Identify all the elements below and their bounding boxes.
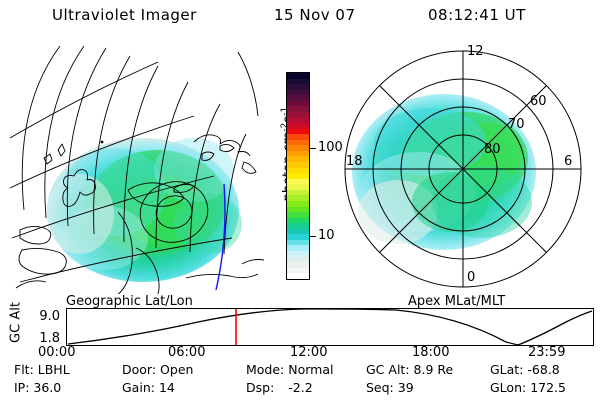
status-gc-alt-value: 8.9 Re: [414, 362, 454, 377]
apex-plot: [332, 42, 594, 294]
header: Ultraviolet Imager 15 Nov 07 08:12:41 UT: [0, 6, 600, 32]
status-seq: Seq: 39: [366, 380, 414, 395]
status-glon: GLon: 172.5: [490, 380, 566, 395]
status-glon-label: GLon:: [490, 380, 526, 395]
status-dsp-value: -2.2: [288, 380, 312, 395]
mlat-label-80: 80: [484, 142, 501, 157]
status-glat: GLat: -68.8: [490, 362, 560, 377]
status-seq-value: 39: [398, 380, 414, 395]
status-door-label: Door:: [122, 362, 156, 377]
time-tick-0000: 00:00: [38, 345, 75, 360]
status-door-value: Open: [160, 362, 193, 377]
observation-date: 15 Nov 07: [274, 6, 356, 24]
status-bar: Flt: LBHL Door: Open Mode: Normal GC Alt…: [0, 362, 600, 400]
orbit-altitude-strip[interactable]: GC Alt 9.0 1.8 00:00 06:00 12:00 18:00 2…: [0, 305, 600, 357]
colorbar-tick-100: [310, 148, 316, 149]
altitude-axis-label: GC Alt: [9, 295, 24, 351]
geographic-panel[interactable]: [8, 42, 270, 294]
time-tick-1800: 18:00: [412, 345, 449, 360]
status-gain-label: Gain:: [122, 380, 155, 395]
status-door: Door: Open: [122, 362, 193, 377]
colorbar-tick-10: [310, 236, 316, 237]
altitude-tick-low: 1.8: [26, 331, 60, 346]
time-tick-0600: 06:00: [168, 345, 205, 360]
aurora-emission-geographic: [46, 138, 242, 282]
mlt-label-0: 0: [467, 270, 475, 285]
mlt-label-6: 6: [564, 154, 572, 169]
geo-marker-dot: [101, 141, 104, 144]
status-filter: Flt: LBHL: [14, 362, 70, 377]
status-mode-label: Mode:: [246, 362, 284, 377]
mlt-label-18: 18: [346, 154, 363, 169]
status-seq-label: Seq:: [366, 380, 394, 395]
status-mode: Mode: Normal: [246, 362, 334, 377]
altitude-tick-high: 9.0: [26, 309, 60, 324]
status-ip: IP: 36.0: [14, 380, 61, 395]
colorbar-segment-36: [287, 273, 309, 279]
status-glon-value: 172.5: [530, 380, 566, 395]
status-ip-label: IP:: [14, 380, 29, 395]
status-filter-label: Flt:: [14, 362, 34, 377]
colorbar-gradient[interactable]: [286, 72, 310, 280]
status-gc-alt: GC Alt: 8.9 Re: [366, 362, 453, 377]
mlt-label-12: 12: [467, 44, 484, 59]
polar-grid: [345, 51, 581, 287]
status-glat-value: -68.8: [527, 362, 559, 377]
status-ip-value: 36.0: [33, 380, 61, 395]
time-tick-1200: 12:00: [290, 345, 327, 360]
observation-time: 08:12:41 UT: [428, 6, 526, 24]
status-gain-value: 14: [159, 380, 175, 395]
status-dsp: Dsp: -2.2: [246, 380, 313, 395]
mlat-label-70: 70: [508, 117, 525, 132]
status-mode-value: Normal: [288, 362, 333, 377]
status-glat-label: GLat:: [490, 362, 523, 377]
status-gc-alt-label: GC Alt:: [366, 362, 410, 377]
apex-panel[interactable]: 12 6 0 18 60 70 80: [332, 42, 594, 294]
mlat-label-60: 60: [530, 94, 547, 109]
status-gain: Gain: 14: [122, 380, 175, 395]
instrument-title: Ultraviolet Imager: [52, 6, 197, 24]
orbit-track-plot[interactable]: [66, 308, 594, 346]
geographic-plot: [8, 42, 270, 294]
status-filter-value: LBHL: [38, 362, 70, 377]
time-tick-2359: 23:59: [528, 345, 565, 360]
status-dsp-label: Dsp:: [246, 380, 274, 395]
uvi-display: Ultraviolet Imager 15 Nov 07 08:12:41 UT: [0, 0, 600, 400]
colorbar[interactable]: photon cm-2s-1 100 10: [262, 42, 330, 294]
